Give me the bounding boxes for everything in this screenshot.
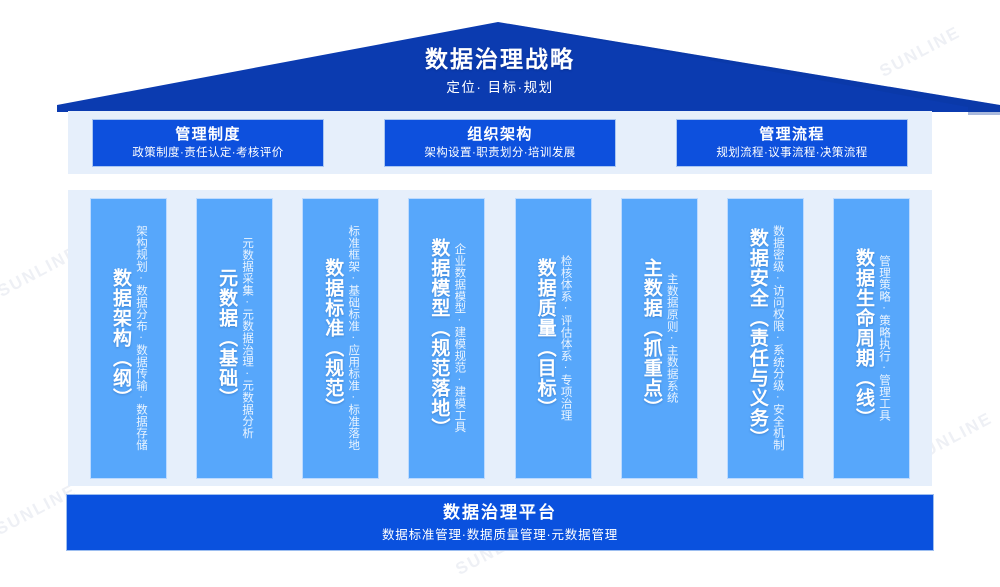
pillar-subtitle: 企业数据模型·建模规范·建模工具 [451,243,466,433]
governance-box-title: 管理制度 [175,125,241,144]
platform-base[interactable]: 数据治理平台 数据标准管理·数据质量管理·元数据管理 [66,494,934,551]
pillar-title: 数据质量（目标） [533,258,558,418]
governance-box-subtitle: 规划流程·议事流程·决策流程 [716,145,867,161]
pillar-data-standard[interactable]: 标准框架·基础标准·应用标准·标准落地 数据标准（规范） [302,198,379,479]
governance-box-subtitle: 政策制度·责任认定·考核评价 [132,145,283,161]
governance-box-title: 组织架构 [467,125,533,144]
pillar-subtitle: 标准框架·基础标准·应用标准·标准落地 [345,225,360,451]
governance-box-organization-structure[interactable]: 组织架构 架构设置·职责划分·培训发展 [384,119,616,167]
pillar-data-architecture[interactable]: 架构规划·数据分布·数据传输·数据存储 数据架构（纲） [90,198,167,479]
governance-box-management-system[interactable]: 管理制度 政策制度·责任认定·考核评价 [92,119,324,167]
pillar-title: 主数据（抓重点） [639,258,664,418]
diagram-canvas: SUNLINE SUNLINE SUNLINE SUNLINE SUNLINE … [0,0,1000,587]
platform-subtitle: 数据标准管理·数据质量管理·元数据管理 [382,526,618,544]
governance-box-subtitle: 架构设置·职责划分·培训发展 [424,145,575,161]
pillar-data-lifecycle[interactable]: 管理策略·策略执行·管理工具 数据生命周期（线） [833,198,910,479]
pillar-metadata[interactable]: 元数据采集·元数据治理·元数据分析 元数据（基础） [196,198,273,479]
pillar-title: 数据模型（规范落地） [426,238,451,438]
roof-title: 数据治理战略 [0,44,1000,74]
pillar-subtitle: 管理策略·策略执行·管理工具 [876,255,891,421]
pillar-subtitle: 架构规划·数据分布·数据传输·数据存储 [133,225,148,451]
pillar-subtitle: 检核体系·评估体系·专项治理 [558,255,573,421]
pillar-title: 元数据（基础） [214,268,239,408]
pillar-data-security[interactable]: 数据密级·访问权限·系统分级·安全机制 数据安全（责任与义务） [727,198,804,479]
pillar-subtitle: 主数据原则·主数据系统 [664,273,679,403]
governance-row: 管理制度 政策制度·责任认定·考核评价 组织架构 架构设置·职责划分·培训发展 … [68,111,932,174]
pillar-data-model[interactable]: 企业数据模型·建模规范·建模工具 数据模型（规范落地） [408,198,485,479]
pillars-row: 架构规划·数据分布·数据传输·数据存储 数据架构（纲） 元数据采集·元数据治理·… [68,190,932,486]
pillar-master-data[interactable]: 主数据原则·主数据系统 主数据（抓重点） [621,198,698,479]
pillar-title: 数据生命周期（线） [851,248,876,428]
pillar-title: 数据标准（规范） [320,258,345,418]
governance-box-management-process[interactable]: 管理流程 规划流程·议事流程·决策流程 [676,119,908,167]
pillar-subtitle: 元数据采集·元数据治理·元数据分析 [239,237,254,439]
roof-subtitle: 定位· 目标·规划 [0,77,1000,99]
pillar-title: 数据安全（责任与义务） [745,228,770,448]
platform-title: 数据治理平台 [443,501,557,524]
roof-banner: 数据治理战略 定位· 目标·规划 [0,0,1000,115]
pillar-subtitle: 数据密级·访问权限·系统分级·安全机制 [770,225,785,451]
governance-box-title: 管理流程 [759,125,825,144]
pillar-title: 数据架构（纲） [108,268,133,408]
roof-text-block: 数据治理战略 定位· 目标·规划 [0,44,1000,99]
pillar-data-quality[interactable]: 检核体系·评估体系·专项治理 数据质量（目标） [515,198,592,479]
